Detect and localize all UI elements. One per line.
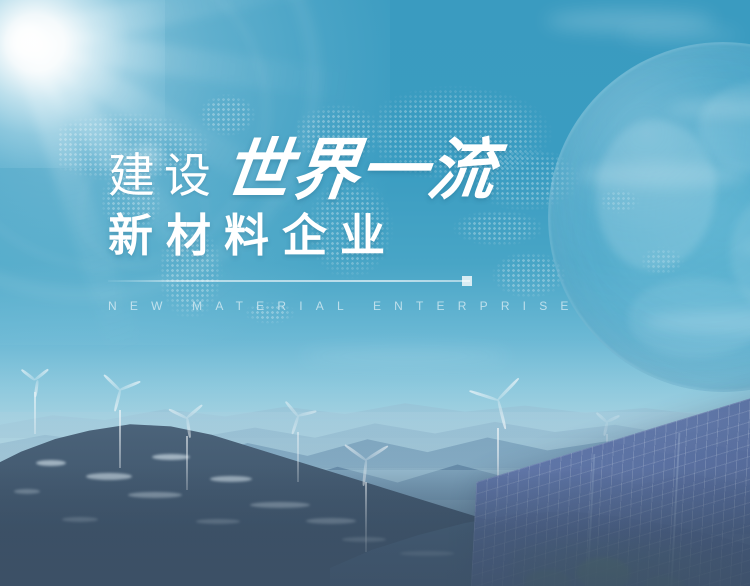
snow-patch xyxy=(400,551,454,556)
hero-subtitle: NEW MATERIAL ENTERPRISE xyxy=(108,299,628,313)
snow-patch xyxy=(14,489,40,494)
wind-turbine xyxy=(22,380,48,434)
snow-patch xyxy=(86,473,132,480)
headline-line-2: 新材料企业 xyxy=(108,213,628,258)
snow-patch xyxy=(250,502,310,508)
wind-turbine xyxy=(284,416,312,482)
wind-turbine xyxy=(348,460,384,552)
headline-line-1: 建设 世界一流 xyxy=(108,128,628,204)
headline-emphasis: 世界一流 xyxy=(220,137,500,204)
snow-patch xyxy=(36,460,66,466)
banner-hero: 建设 世界一流 新材料企业 NEW MATERIAL ENTERPRISE xyxy=(0,0,750,586)
title-divider xyxy=(108,280,470,282)
snow-patch xyxy=(196,519,240,524)
snow-patch xyxy=(62,517,98,522)
wind-turbine xyxy=(104,390,136,468)
snow-patch xyxy=(128,492,182,498)
landscape-scene xyxy=(0,326,750,586)
divider-end-cap xyxy=(462,276,472,286)
headline-prefix: 建设 xyxy=(108,152,220,199)
hero-text-block: 建设 世界一流 新材料企业 NEW MATERIAL ENTERPRISE xyxy=(108,128,628,313)
snow-patch xyxy=(210,476,252,482)
wind-turbine xyxy=(172,418,202,490)
